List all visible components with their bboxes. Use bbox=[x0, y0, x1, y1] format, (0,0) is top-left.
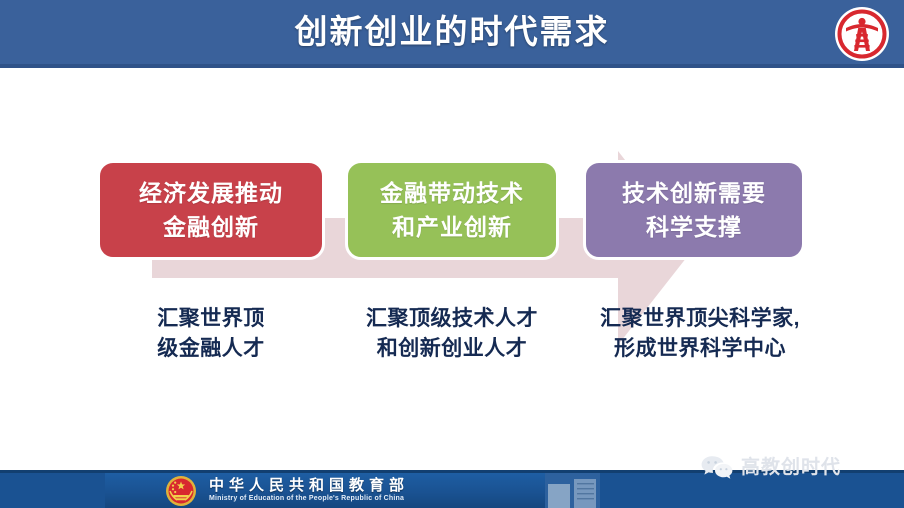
box-technology-science[interactable]: 技术创新需要 科学支撑 bbox=[583, 160, 805, 260]
ministry-banner: 中华人民共和国教育部 Ministry of Education of the … bbox=[105, 473, 545, 508]
box-economy-finance[interactable]: 经济发展推动 金融创新 bbox=[97, 160, 325, 260]
caption-finance-talent-line1: 汇聚世界顶 bbox=[97, 304, 325, 334]
caption-tech-talent: 汇聚顶级技术人才 和创新创业人才 bbox=[333, 304, 571, 364]
slide-body: 经济发展推动 金融创新 金融带动技术 和产业创新 技术创新需要 科学支撑 汇聚世… bbox=[0, 68, 904, 470]
box-finance-technology[interactable]: 金融带动技术 和产业创新 bbox=[345, 160, 559, 260]
box-technology-science-line1: 技术创新需要 bbox=[622, 176, 766, 210]
ministry-name-en: Ministry of Education of the People's Re… bbox=[209, 494, 409, 504]
box-finance-technology-line1: 金融带动技术 bbox=[380, 176, 524, 210]
page-title: 创新创业的时代需求 bbox=[0, 8, 904, 56]
institution-red-circle-logo bbox=[834, 6, 890, 62]
national-emblem bbox=[165, 475, 197, 507]
concept-box-row: 经济发展推动 金融创新 金融带动技术 和产业创新 技术创新需要 科学支撑 汇聚世… bbox=[0, 68, 904, 470]
box-finance-technology-line2: 和产业创新 bbox=[392, 210, 512, 244]
slide-footer: 中华人民共和国教育部 Ministry of Education of the … bbox=[0, 470, 904, 508]
caption-science-center-line1: 汇聚世界顶尖科学家, bbox=[575, 304, 825, 334]
caption-finance-talent-line2: 级金融人才 bbox=[97, 334, 325, 364]
box-economy-finance-line2: 金融创新 bbox=[163, 210, 259, 244]
caption-finance-talent: 汇聚世界顶 级金融人才 bbox=[97, 304, 325, 364]
caption-science-center: 汇聚世界顶尖科学家, 形成世界科学中心 bbox=[575, 304, 825, 364]
caption-tech-talent-line2: 和创新创业人才 bbox=[333, 334, 571, 364]
ministry-name-cn: 中华人民共和国教育部 bbox=[209, 477, 409, 494]
box-economy-finance-line1: 经济发展推动 bbox=[139, 176, 283, 210]
box-technology-science-line2: 科学支撑 bbox=[646, 210, 742, 244]
slide-header: 创新创业的时代需求 bbox=[0, 0, 904, 68]
caption-science-center-line2: 形成世界科学中心 bbox=[575, 334, 825, 364]
ministry-text-block: 中华人民共和国教育部 Ministry of Education of the … bbox=[209, 477, 409, 504]
caption-tech-talent-line1: 汇聚顶级技术人才 bbox=[333, 304, 571, 334]
